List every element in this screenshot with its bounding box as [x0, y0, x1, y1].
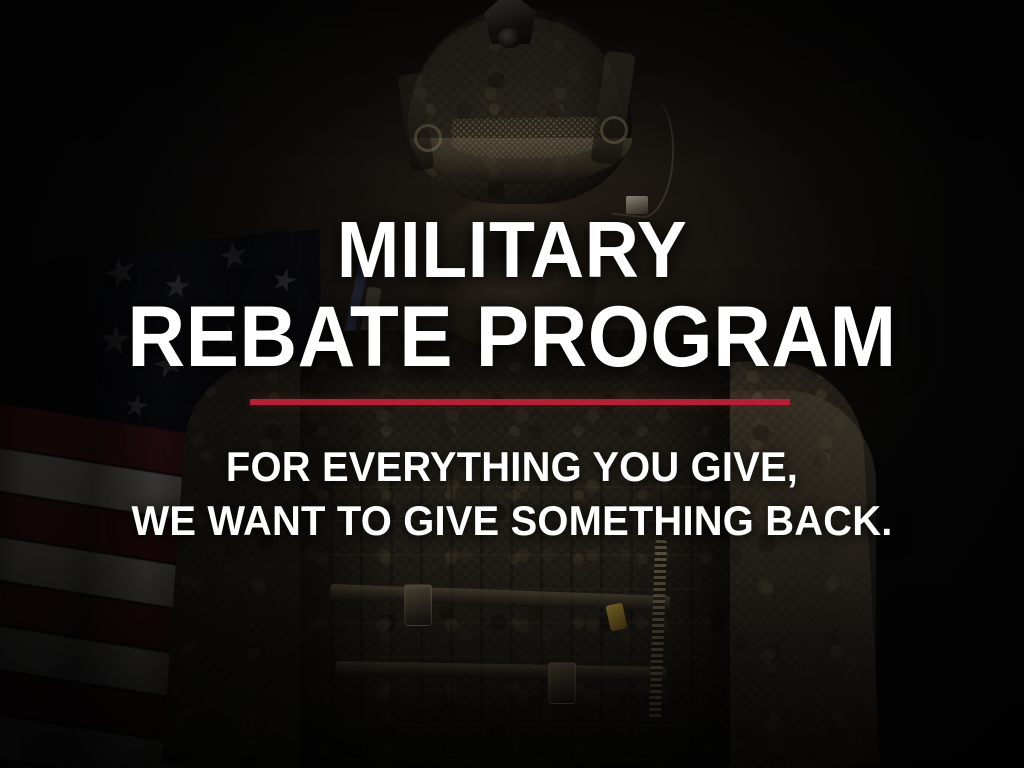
subhead-line-2: WE WANT TO GIVE SOMETHING BACK.: [26, 497, 999, 545]
subhead-line-1: FOR EVERYTHING YOU GIVE,: [26, 443, 999, 491]
headline-line-1: MILITARY: [31, 212, 994, 289]
text-overlay: MILITARY REBATE PROGRAM FOR EVERYTHING Y…: [0, 0, 1024, 768]
military-rebate-banner: MILITARY REBATE PROGRAM FOR EVERYTHING Y…: [0, 0, 1024, 768]
headline-line-2: REBATE PROGRAM: [36, 296, 988, 379]
red-divider-rule: [250, 399, 790, 405]
